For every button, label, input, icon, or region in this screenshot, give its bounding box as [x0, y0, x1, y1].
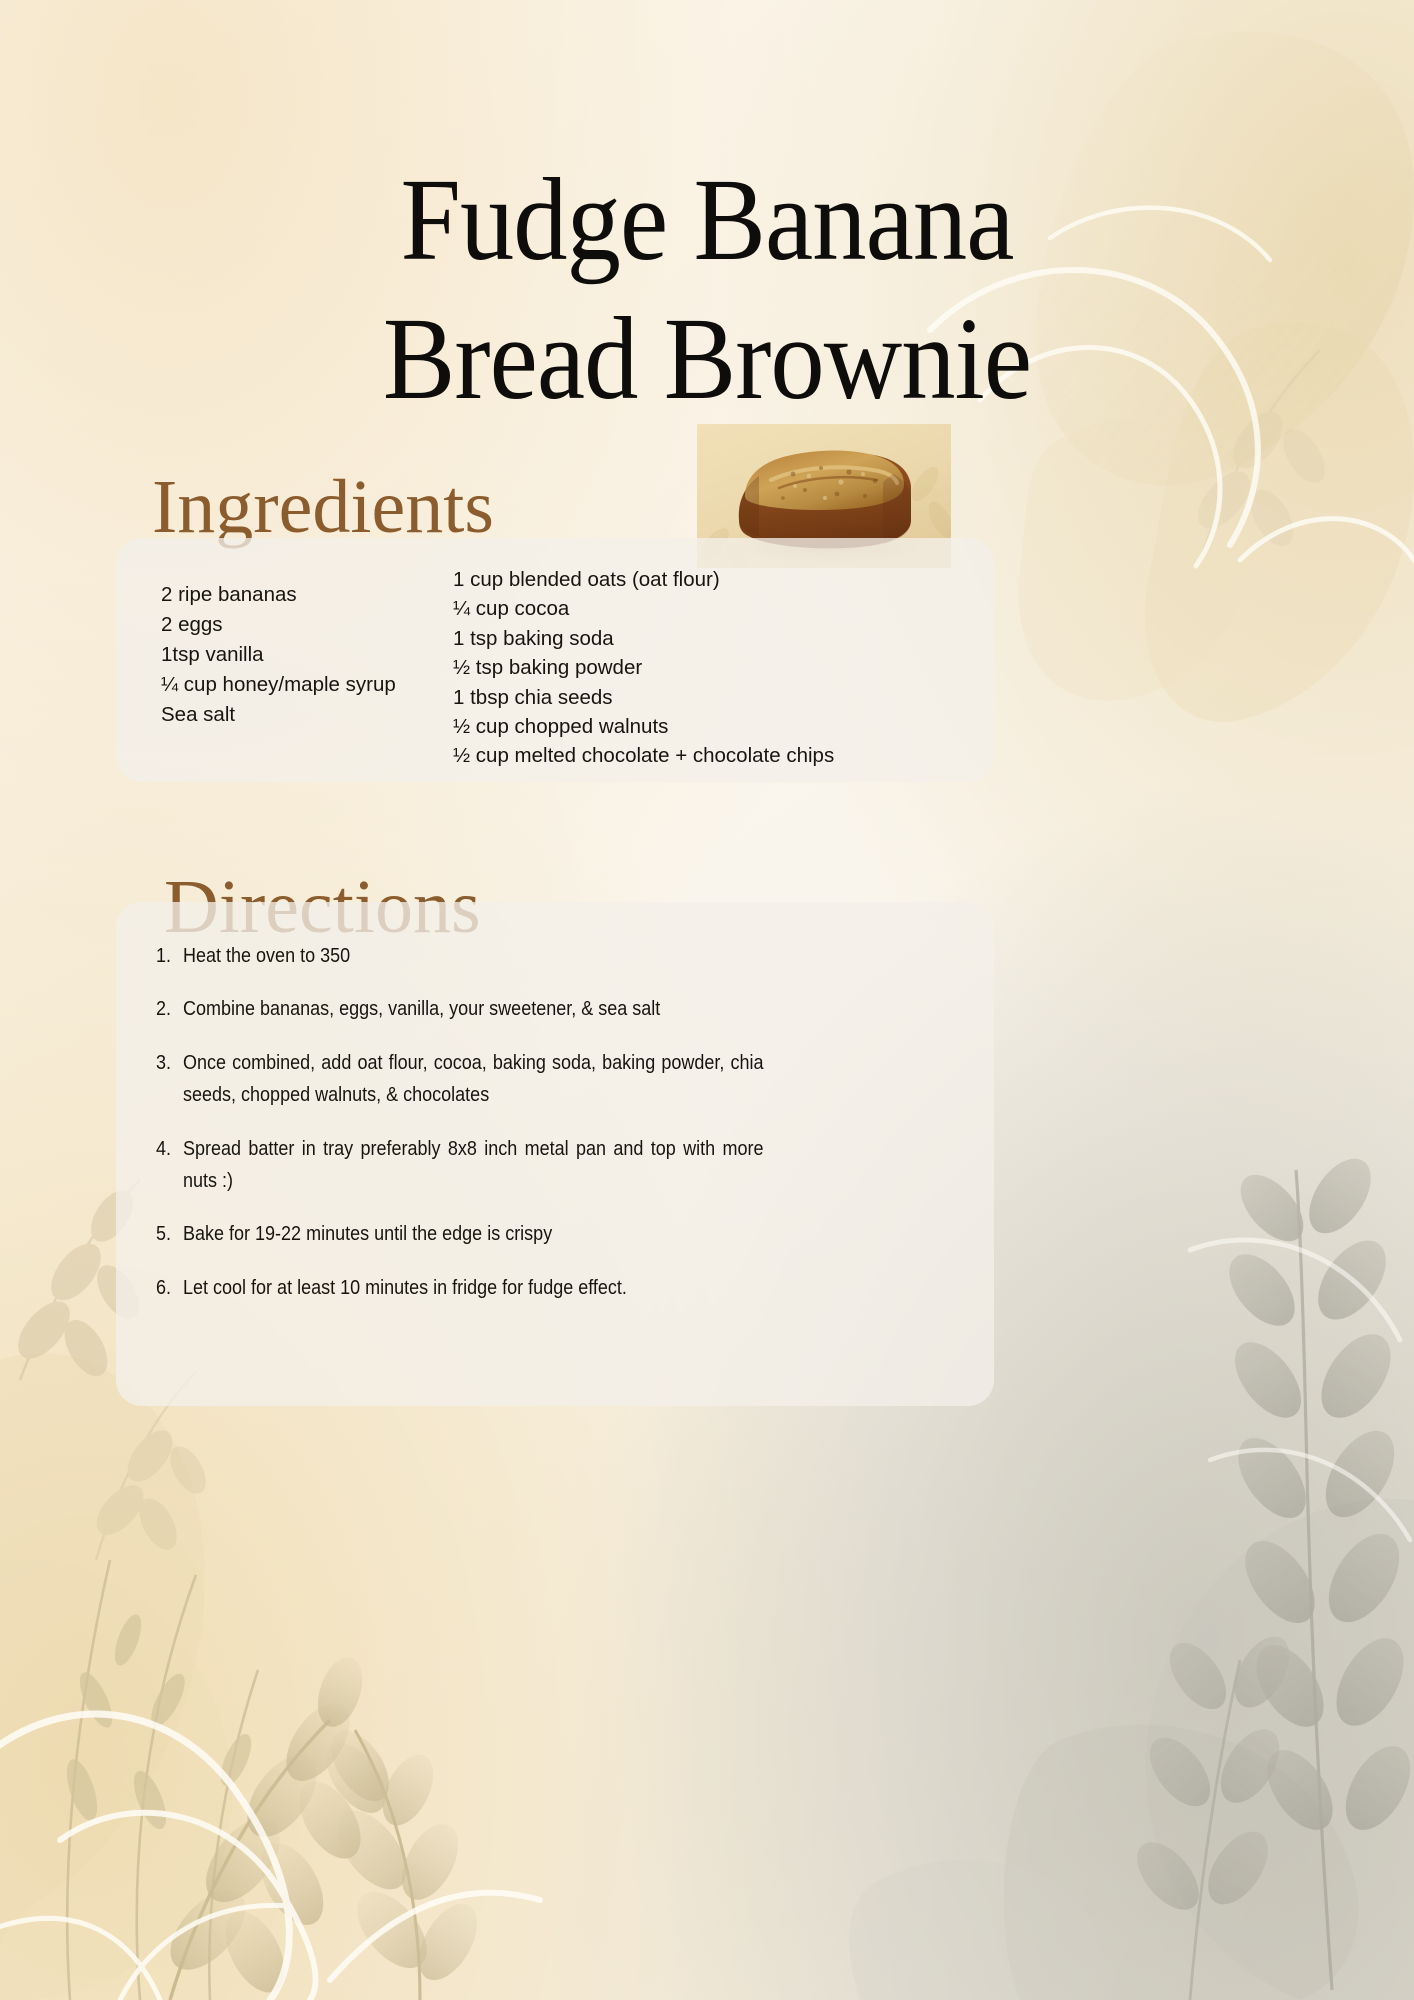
ingredient-item: 1 tsp baking soda — [453, 624, 973, 653]
recipe-card: Fudge Banana Bread Brownie — [0, 0, 1414, 2000]
ingredient-item: ¼ cup cocoa — [453, 594, 973, 623]
ingredients-left-column: 2 ripe bananas 2 eggs 1tsp vanilla ¼ cup… — [161, 580, 461, 730]
step-number: 3. — [156, 1047, 180, 1079]
ingredient-item: ½ cup chopped walnuts — [453, 712, 973, 741]
step-text: Combine bananas, eggs, vanilla, your swe… — [183, 993, 764, 1025]
step-number: 5. — [156, 1218, 180, 1250]
title-line-2: Bread Brownie — [57, 289, 1358, 428]
direction-step: 5. Bake for 19-22 minutes until the edge… — [156, 1218, 828, 1250]
page-title: Fudge Banana Bread Brownie — [57, 150, 1358, 428]
step-text: Heat the oven to 350 — [183, 940, 764, 972]
step-number: 2. — [156, 993, 180, 1025]
ingredient-item: ¼ cup honey/maple syrup — [161, 670, 461, 700]
ingredients-right-column: 1 cup blended oats (oat flour) ¼ cup coc… — [453, 565, 973, 771]
ingredient-item: 2 ripe bananas — [161, 580, 461, 610]
ingredient-item: Sea salt — [161, 700, 461, 730]
ingredients-columns: 2 ripe bananas 2 eggs 1tsp vanilla ¼ cup… — [116, 538, 994, 782]
step-text: Let cool for at least 10 minutes in frid… — [183, 1272, 764, 1304]
step-number: 6. — [156, 1272, 180, 1304]
direction-step: 3. Once combined, add oat flour, cocoa, … — [156, 1047, 828, 1112]
title-line-1: Fudge Banana — [57, 150, 1358, 289]
ingredient-item: 1tsp vanilla — [161, 640, 461, 670]
step-text: Spread batter in tray preferably 8x8 inc… — [183, 1133, 764, 1198]
ingredient-item: 1 cup blended oats (oat flour) — [453, 565, 973, 594]
ingredient-item: ½ cup melted chocolate + chocolate chips — [453, 741, 973, 770]
direction-step: 1. Heat the oven to 350 — [156, 940, 828, 972]
direction-step: 2. Combine bananas, eggs, vanilla, your … — [156, 993, 828, 1025]
ingredient-item: 1 tbsp chia seeds — [453, 683, 973, 712]
step-number: 4. — [156, 1133, 180, 1165]
step-text: Once combined, add oat flour, cocoa, bak… — [183, 1047, 764, 1112]
ingredient-item: 2 eggs — [161, 610, 461, 640]
direction-step: 6. Let cool for at least 10 minutes in f… — [156, 1272, 828, 1304]
direction-step: 4. Spread batter in tray preferably 8x8 … — [156, 1133, 828, 1198]
ingredient-item: ½ tsp baking powder — [453, 653, 973, 682]
directions-list: 1. Heat the oven to 350 2. Combine banan… — [156, 940, 828, 1304]
step-number: 1. — [156, 940, 180, 972]
step-text: Bake for 19-22 minutes until the edge is… — [183, 1218, 764, 1250]
